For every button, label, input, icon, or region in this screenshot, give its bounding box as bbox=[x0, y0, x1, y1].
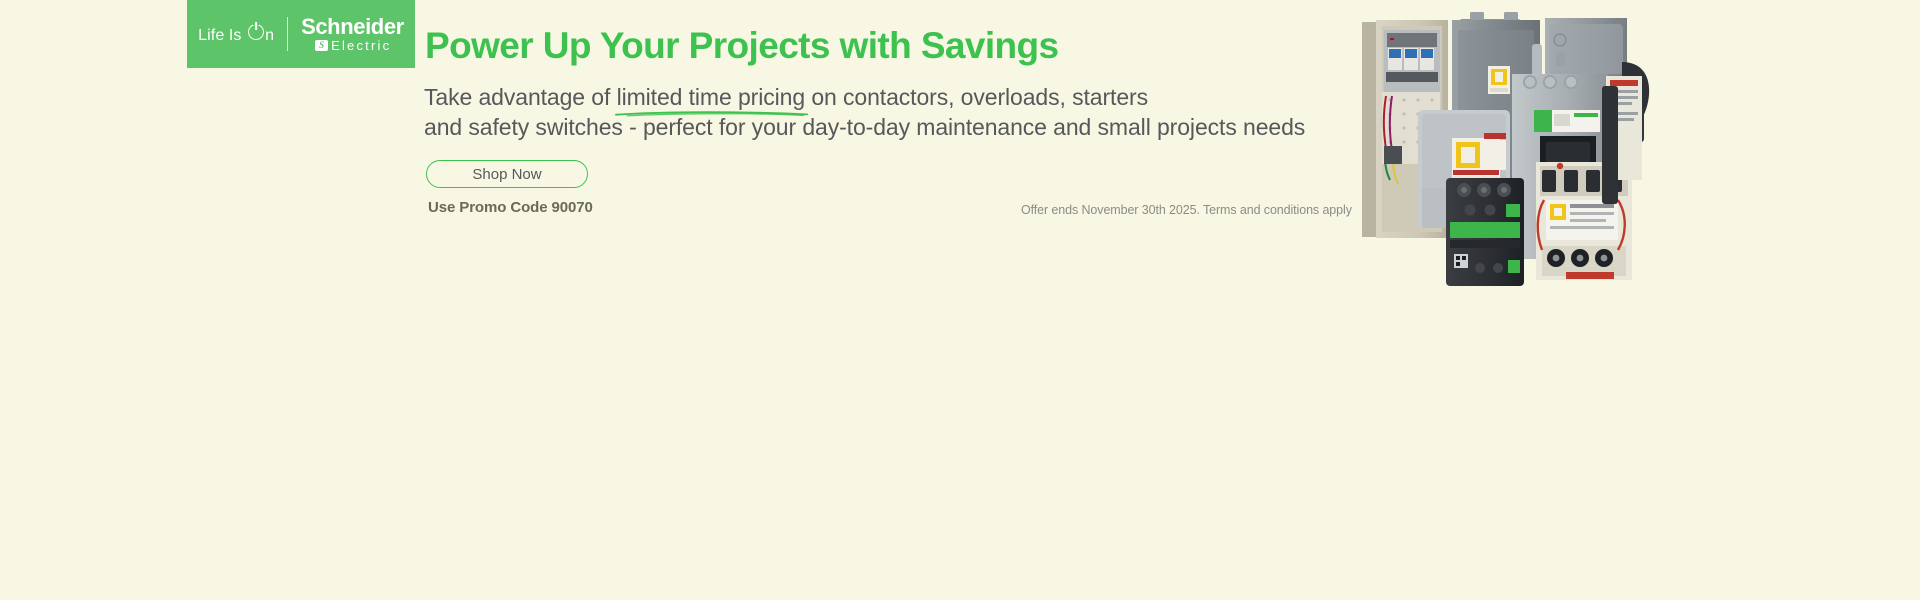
shop-now-button[interactable]: Shop Now bbox=[426, 160, 588, 188]
body-line-2: and safety switches - perfect for your d… bbox=[424, 112, 1305, 142]
promo-banner: Life Is n Schneider S Electric Power Up … bbox=[0, 0, 1920, 600]
emphasis-text: limited time pricing bbox=[617, 84, 805, 110]
product-contactor-black bbox=[1446, 178, 1524, 286]
body-line-1-pre: Take advantage of bbox=[424, 84, 617, 110]
brand-electric-text: Electric bbox=[331, 39, 391, 52]
body-copy: Take advantage of limited time pricing o… bbox=[424, 82, 1305, 142]
limited-time-pricing-emphasis: limited time pricing bbox=[617, 82, 805, 112]
body-line-1-post: on contactors, overloads, starters bbox=[805, 84, 1148, 110]
body-line-1: Take advantage of limited time pricing o… bbox=[424, 82, 1305, 112]
promo-code-text: Use Promo Code 90070 bbox=[428, 199, 593, 216]
life-is-on-text: Life Is n bbox=[198, 24, 274, 45]
logo-divider bbox=[287, 17, 288, 51]
life-is-on-tagline: Life Is n bbox=[198, 24, 274, 45]
brand-lockup: Schneider S Electric bbox=[301, 16, 404, 52]
hand-drawn-underline-icon bbox=[615, 110, 809, 117]
headline: Power Up Your Projects with Savings bbox=[425, 25, 1059, 67]
product-collage-svg bbox=[1360, 0, 1660, 290]
brand-sub-lockup: S Electric bbox=[315, 39, 391, 52]
power-on-icon bbox=[248, 24, 264, 40]
schneider-s-icon: S bbox=[315, 40, 328, 51]
offer-disclaimer: Offer ends November 30th 2025. Terms and… bbox=[1021, 203, 1352, 217]
product-collage-image bbox=[1360, 0, 1660, 290]
brand-name: Schneider bbox=[301, 16, 404, 38]
logo-inner: Life Is n Schneider S Electric bbox=[198, 16, 404, 52]
schneider-electric-logo[interactable]: Life Is n Schneider S Electric bbox=[187, 0, 415, 68]
